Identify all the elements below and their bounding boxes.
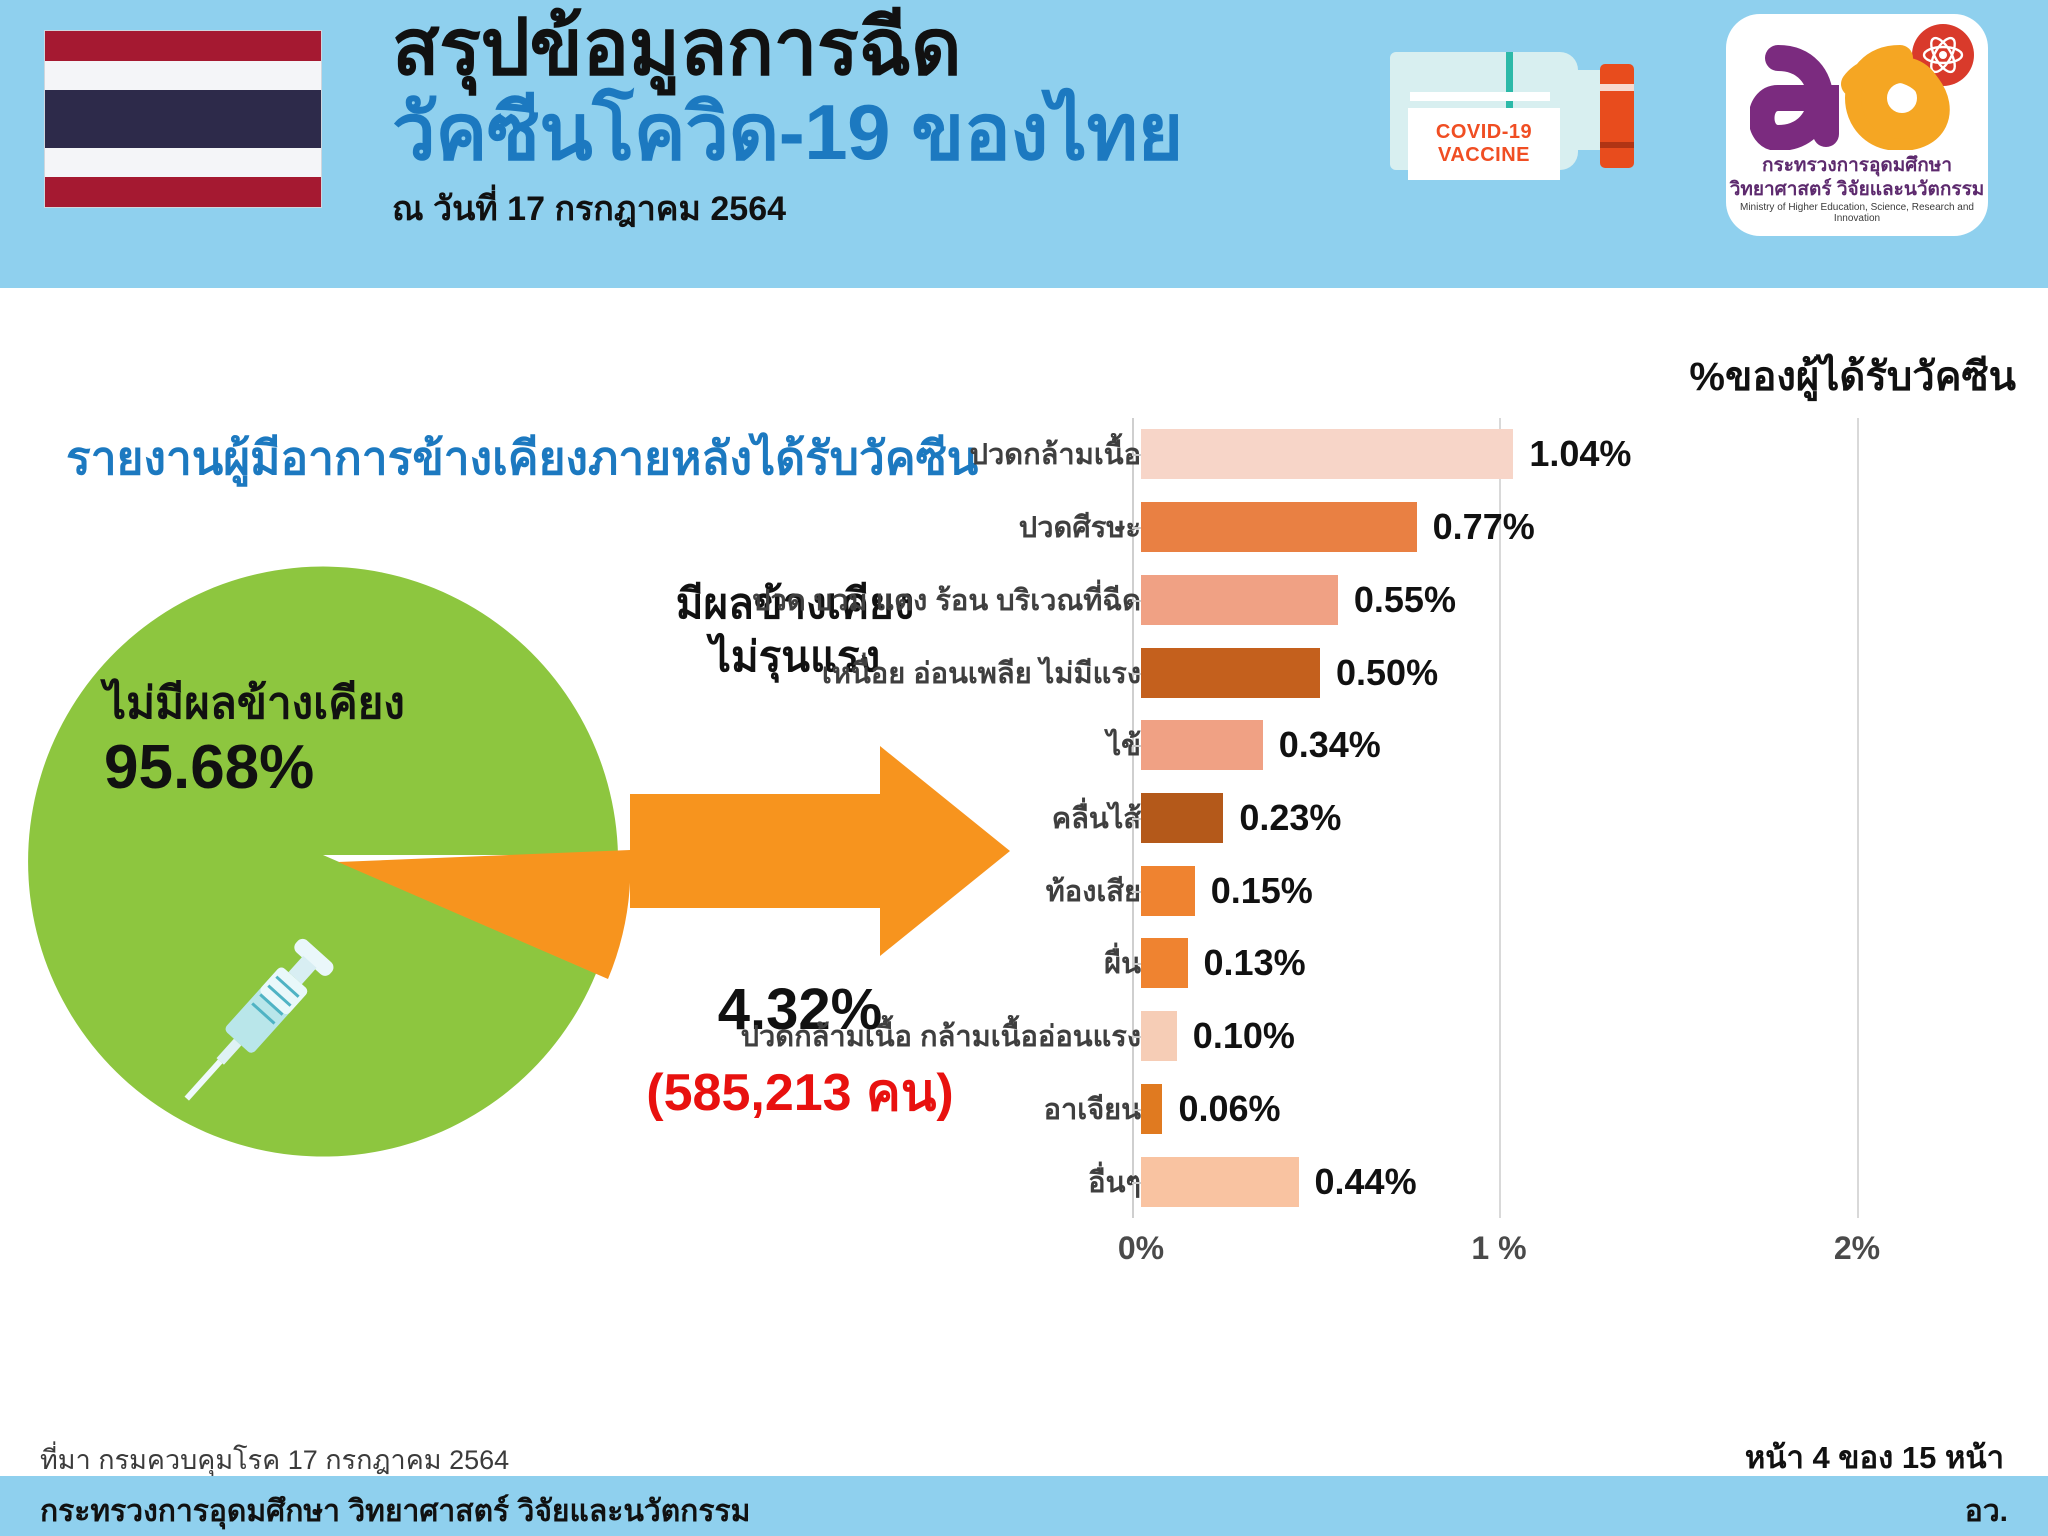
chart-category-label: ท้องเสีย xyxy=(501,868,1141,914)
thailand-flag-icon xyxy=(44,30,322,208)
chart-bar-row: ปวดศีรษะ0.77% xyxy=(960,491,2030,564)
vial-label-line1: COVID-19 xyxy=(1436,121,1532,144)
chart-bar-value: 0.55% xyxy=(1354,579,1456,621)
symptom-bar-chart: %ของผู้ได้รับวัคซีน ปวดกล้ามเนื้อ1.04%ปว… xyxy=(960,328,2030,1358)
page-title-line1: สรุปข้อมูลการฉีด xyxy=(392,8,1422,88)
chart-category-label: ปวดศีรษะ xyxy=(501,504,1141,550)
chart-bar-value: 0.10% xyxy=(1193,1015,1295,1057)
chart-x-tick-label: 0% xyxy=(1118,1230,1164,1267)
chart-category-label: อื่นๆ xyxy=(501,1159,1141,1205)
chart-bar-value: 0.15% xyxy=(1211,870,1313,912)
source-note: ที่มา กรมควบคุมโรค 17 กรกฎาคม 2564 xyxy=(40,1438,509,1481)
chart-bar xyxy=(1141,793,1223,843)
chart-bar-row: ท้องเสีย0.15% xyxy=(960,854,2030,927)
chart-bar xyxy=(1141,502,1417,552)
vial-label-line2: VACCINE xyxy=(1438,144,1530,167)
chart-category-label: ไข้ xyxy=(501,722,1141,768)
side-effect-pie-chart: ไม่มีผลข้างเคียง 95.68% xyxy=(8,540,638,1170)
chart-category-label: อาเจียน xyxy=(501,1086,1141,1132)
chart-bar xyxy=(1141,1157,1299,1207)
chart-bar-row: ไข้0.34% xyxy=(960,709,2030,782)
chart-bar xyxy=(1141,575,1338,625)
vial-label: COVID-19 VACCINE xyxy=(1408,108,1560,180)
chart-bar-row: เหนื่อย อ่อนเพลีย ไม่มีแรง0.50% xyxy=(960,636,2030,709)
chart-title: %ของผู้ได้รับวัคซีน xyxy=(1689,344,2016,408)
chart-x-tick-label: 1 % xyxy=(1471,1230,1526,1267)
chart-bar-value: 0.34% xyxy=(1279,724,1381,766)
page-number: หน้า 4 ของ 15 หน้า xyxy=(1745,1432,2004,1482)
ministry-logo: กระทรวงการอุดมศึกษา วิทยาศาสตร์ วิจัยและ… xyxy=(1726,14,1988,236)
chart-bar-row: อื่นๆ0.44% xyxy=(960,1145,2030,1218)
chart-bar xyxy=(1141,429,1513,479)
chart-category-label: เหนื่อย อ่อนเพลีย ไม่มีแรง xyxy=(501,650,1141,696)
chart-bar-value: 0.06% xyxy=(1178,1088,1280,1130)
logo-mark-icon xyxy=(1750,40,1960,150)
chart-bar-value: 0.23% xyxy=(1239,797,1341,839)
chart-category-label: ผื่น xyxy=(501,940,1141,986)
chart-category-label: ปวดกล้ามเนื้อ xyxy=(501,431,1141,477)
chart-bar xyxy=(1141,1011,1177,1061)
footer-bar: กระทรวงการอุดมศึกษา วิทยาศาสตร์ วิจัยและ… xyxy=(0,1476,2048,1536)
chart-bar xyxy=(1141,938,1188,988)
main-content: รายงานผู้มีอาการข้างเคียงภายหลังได้รับวั… xyxy=(0,288,2048,1438)
page-title-line2: วัคซีนโควิด-19 ของไทย xyxy=(392,92,1422,174)
chart-bar-row: ปวดกล้ามเนื้อ1.04% xyxy=(960,418,2030,491)
chart-x-axis: 0%1 %2% xyxy=(960,1230,2030,1290)
logo-ministry-thai: กระทรวงการอุดมศึกษา วิทยาศาสตร์ วิจัยและ… xyxy=(1726,154,1988,202)
vaccine-vial-icon: COVID-19 VACCINE xyxy=(1390,30,1690,190)
chart-bar-row: คลื่นไส้0.23% xyxy=(960,782,2030,855)
chart-x-tick-label: 2% xyxy=(1834,1230,1880,1267)
chart-bar xyxy=(1141,720,1263,770)
chart-bar-row: อาเจียน0.06% xyxy=(960,1073,2030,1146)
chart-bar-value: 0.50% xyxy=(1336,652,1438,694)
footer-ministry-name: กระทรวงการอุดมศึกษา วิทยาศาสตร์ วิจัยและ… xyxy=(40,1488,750,1535)
chart-bar-row: ปวด บวม แดง ร้อน บริเวณที่ฉีด0.55% xyxy=(960,563,2030,636)
header-title-block: สรุปข้อมูลการฉีด วัคซีนโควิด-19 ของไทย ณ… xyxy=(392,8,1422,235)
infographic-page: สรุปข้อมูลการฉีด วัคซีนโควิด-19 ของไทย ณ… xyxy=(0,0,2048,1536)
logo-ministry-english: Ministry of Higher Education, Science, R… xyxy=(1726,202,1988,224)
chart-bar-rows: ปวดกล้ามเนื้อ1.04%ปวดศีรษะ0.77%ปวด บวม แ… xyxy=(960,418,2030,1218)
chart-bar xyxy=(1141,866,1195,916)
page-header: สรุปข้อมูลการฉีด วัคซีนโควิด-19 ของไทย ณ… xyxy=(0,0,2048,288)
report-date: ณ วันที่ 17 กรกฎาคม 2564 xyxy=(392,181,1422,235)
chart-bar xyxy=(1141,1084,1162,1134)
chart-category-label: คลื่นไส้ xyxy=(501,795,1141,841)
chart-bar-value: 0.77% xyxy=(1433,506,1535,548)
chart-bar xyxy=(1141,648,1320,698)
chart-bar-value: 0.13% xyxy=(1204,942,1306,984)
logo-line1: กระทรวงการอุดมศึกษา xyxy=(1726,154,1988,178)
chart-bar-row: ผื่น0.13% xyxy=(960,927,2030,1000)
chart-bar-value: 1.04% xyxy=(1529,433,1631,475)
logo-line2: วิทยาศาสตร์ วิจัยและนวัตกรรม xyxy=(1726,178,1988,202)
syringe-icon xyxy=(138,910,368,1140)
chart-bar-row: ปวดกล้ามเนื้อ กล้ามเนื้ออ่อนแรง0.10% xyxy=(960,1000,2030,1073)
chart-bar-value: 0.44% xyxy=(1315,1161,1417,1203)
chart-category-label: ปวด บวม แดง ร้อน บริเวณที่ฉีด xyxy=(501,577,1141,623)
footer-abbreviation: อว. xyxy=(1965,1488,2008,1535)
chart-plot-area: ปวดกล้ามเนื้อ1.04%ปวดศีรษะ0.77%ปวด บวม แ… xyxy=(960,418,2030,1278)
chart-category-label: ปวดกล้ามเนื้อ กล้ามเนื้ออ่อนแรง xyxy=(501,1013,1141,1059)
